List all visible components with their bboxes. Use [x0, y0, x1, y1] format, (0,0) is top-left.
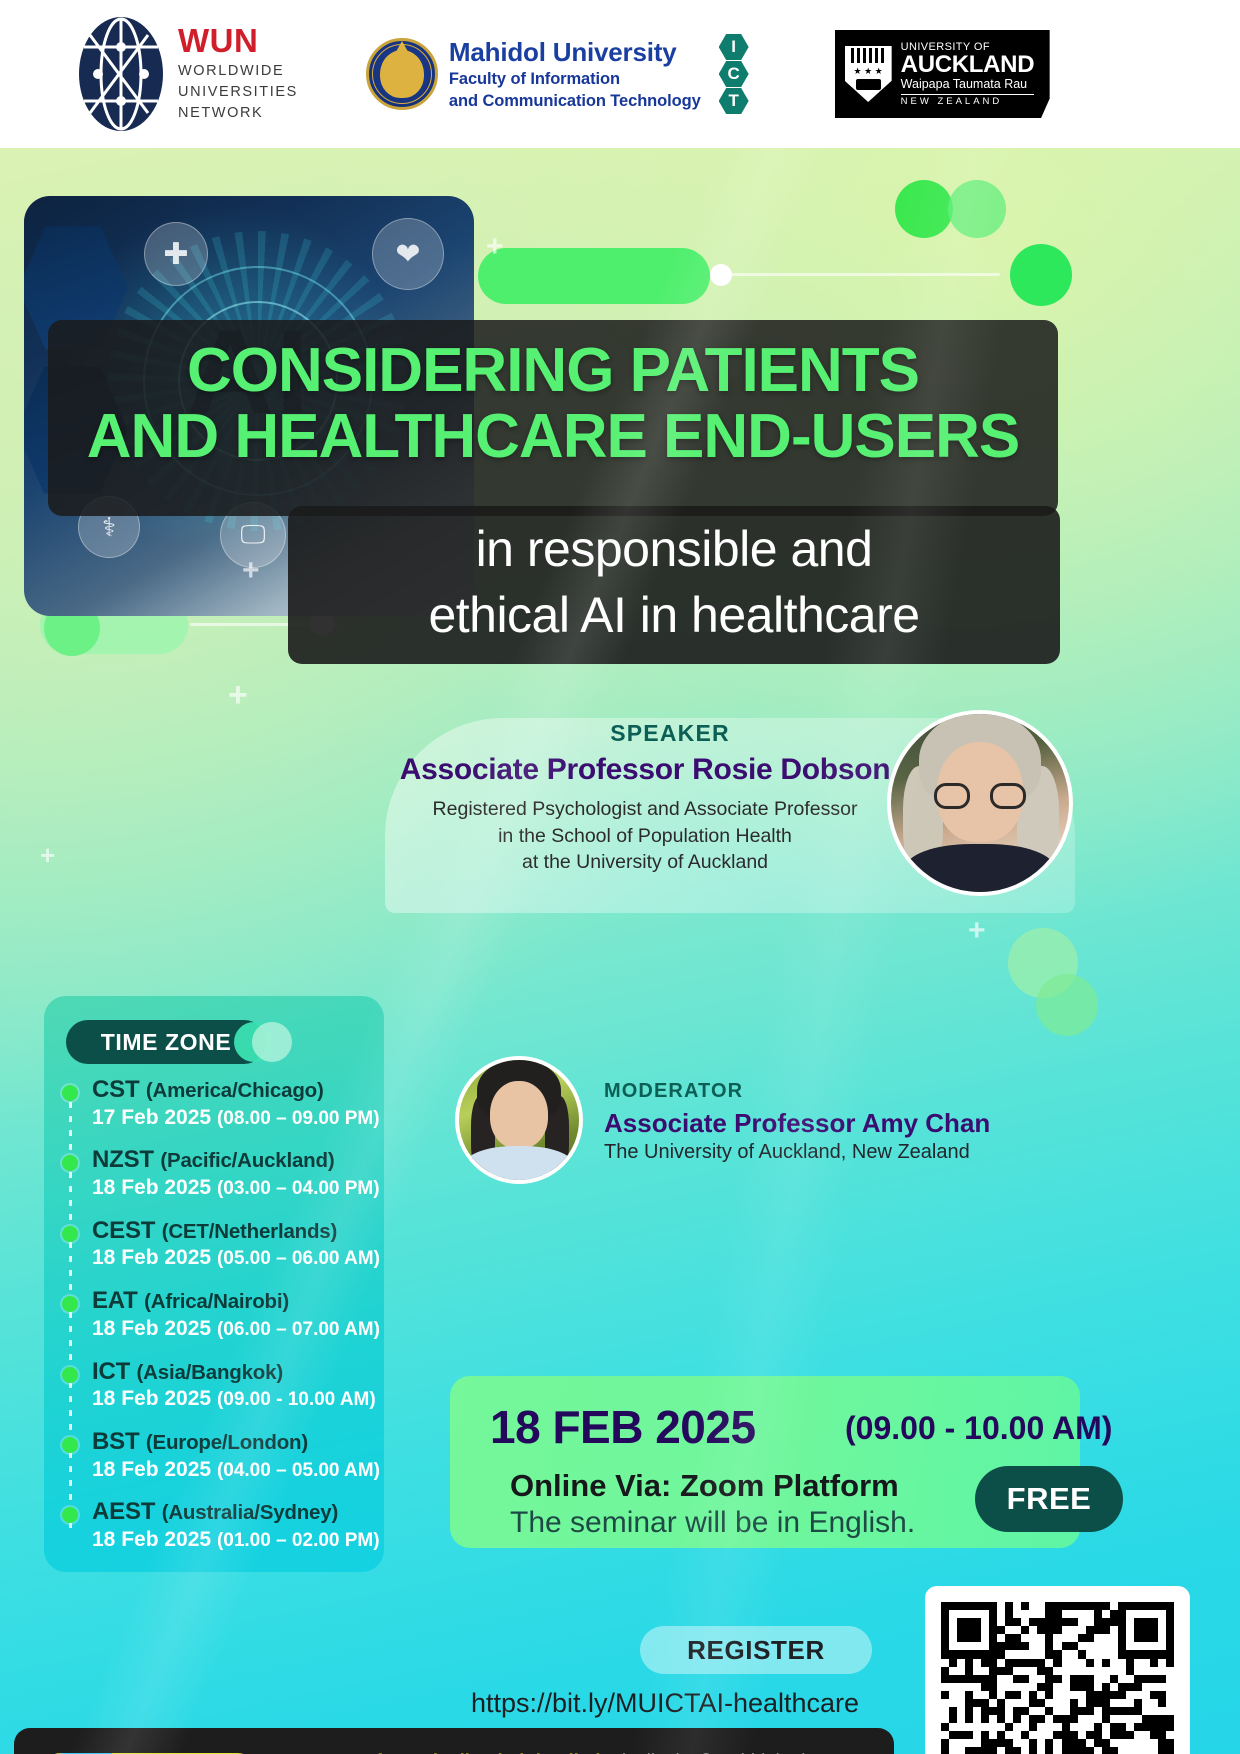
- hero-decor-plus: +: [242, 554, 260, 588]
- mahidol-seal-icon: [366, 38, 438, 110]
- timezone-datetime: 18 Feb 2025 (05.00 – 06.00 AM): [92, 1245, 382, 1271]
- timezone-datetime: 18 Feb 2025 (06.00 – 07.00 AM): [92, 1316, 382, 1342]
- free-badge: FREE: [975, 1466, 1123, 1532]
- mahidol-faculty-line-1: Faculty of Information: [449, 70, 701, 88]
- timezone-datetime: 18 Feb 2025 (09.00 - 10.00 AM): [92, 1386, 382, 1412]
- decor-circle-3: [1010, 244, 1072, 306]
- poster-body: + + + + + AI ✚ ❤ ⚕ 🖵 + CONSIDERING PATIE…: [0, 148, 1240, 1754]
- poster-title-line-2: AND HEALTHCARE END-USERS: [48, 404, 1058, 470]
- ict-letter-i: I: [719, 34, 749, 60]
- partner-logo-bar: WUN WORLDWIDE UNIVERSITIES NETWORK Mahid…: [0, 0, 1240, 148]
- auckland-logo: ★ ★ ★ UNIVERSITY OF AUCKLAND Waipapa Tau…: [835, 30, 1050, 118]
- timezone-code: AEST (Australia/Sydney): [92, 1498, 382, 1526]
- timezone-datetime: 18 Feb 2025 (03.00 – 04.00 PM): [92, 1175, 382, 1201]
- mahidol-logo: Mahidol University Faculty of Informatio…: [366, 38, 701, 110]
- speaker-bio: Registered Psychologist and Associate Pr…: [385, 796, 905, 876]
- mahidol-university-name: Mahidol University: [449, 38, 701, 67]
- moderator-label: MODERATOR: [604, 1080, 743, 1103]
- timezone-bullet-icon: [62, 1226, 78, 1242]
- poster-title-line-1: CONSIDERING PATIENTS: [48, 338, 1058, 404]
- ict-logo: I C T: [719, 34, 749, 114]
- moderator-avatar: [455, 1056, 583, 1184]
- decor-circle-1: [895, 180, 953, 238]
- timezone-bullet-icon: [62, 1155, 78, 1171]
- event-language-note: The seminar will be in English.: [510, 1506, 915, 1540]
- timezone-datetime: 18 Feb 2025 (04.00 – 05.00 AM): [92, 1457, 382, 1483]
- timezone-code: BST (Europe/London): [92, 1428, 382, 1456]
- event-date: 18 FEB 2025: [490, 1400, 756, 1454]
- decor-line-1: [730, 273, 1000, 276]
- timezone-datetime: 18 Feb 2025 (01.00 – 02.00 PM): [92, 1527, 382, 1553]
- mahidol-faculty-line-2: and Communication Technology: [449, 92, 701, 110]
- wun-globe-icon: [78, 15, 164, 133]
- timezone-item: CEST (CET/Netherlands)18 Feb 2025 (05.00…: [62, 1217, 382, 1271]
- speaker-label: SPEAKER: [430, 720, 910, 747]
- timezone-item: AEST (Australia/Sydney)18 Feb 2025 (01.0…: [62, 1498, 382, 1552]
- timezone-bullet-icon: [62, 1367, 78, 1383]
- wun-logo: WUN WORLDWIDE UNIVERSITIES NETWORK: [78, 15, 298, 133]
- timezone-item: CST (America/Chicago)17 Feb 2025 (08.00 …: [62, 1076, 382, 1130]
- timezone-code: CEST (CET/Netherlands): [92, 1217, 382, 1245]
- timezone-item: BST (Europe/London)18 Feb 2025 (04.00 – …: [62, 1428, 382, 1482]
- poster-title: CONSIDERING PATIENTS AND HEALTHCARE END-…: [48, 338, 1058, 469]
- decor-plus-1: +: [486, 230, 504, 264]
- speaker-avatar: [887, 710, 1073, 896]
- decor-circle-2: [948, 180, 1006, 238]
- contact-name: Asst. Prof. Dr. Tipajin Thaipisutikul:: [294, 1750, 606, 1754]
- speaker-bio-line-3: at the University of Auckland: [385, 849, 905, 876]
- timezone-item: ICT (Asia/Bangkok)18 Feb 2025 (09.00 - 1…: [62, 1358, 382, 1412]
- qr-code-image[interactable]: [941, 1602, 1174, 1754]
- event-time: (09.00 - 10.00 AM): [845, 1410, 1112, 1447]
- auckland-line-3: Waipapa Taumata Rau: [901, 78, 1035, 91]
- speaker-bio-line-2: in the School of Population Health: [385, 823, 905, 850]
- timezone-code: NZST (Pacific/Auckland): [92, 1146, 382, 1174]
- poster-subtitle-line-1: in responsible and: [288, 516, 1060, 582]
- timezone-code: ICT (Asia/Bangkok): [92, 1358, 382, 1386]
- register-label[interactable]: REGISTER: [640, 1626, 872, 1674]
- timezone-code: EAT (Africa/Nairobi): [92, 1287, 382, 1315]
- speaker-bio-line-1: Registered Psychologist and Associate Pr…: [385, 796, 905, 823]
- auckland-divider: [901, 94, 1035, 95]
- auckland-shield-icon: ★ ★ ★: [845, 46, 892, 102]
- contact-entry: •Asst. Prof. Dr. Tipajin Thaipisutikul: …: [288, 1746, 868, 1754]
- poster-subtitle: in responsible and ethical AI in healthc…: [288, 516, 1060, 648]
- wun-sub-line-3: NETWORK: [178, 103, 298, 124]
- timezone-bullet-icon: [62, 1085, 78, 1101]
- decor-plus-4: +: [968, 914, 986, 948]
- poster-subtitle-line-2: ethical AI in healthcare: [288, 582, 1060, 648]
- timezone-chip-circle-2: [252, 1022, 292, 1062]
- timezone-bullet-icon: [62, 1507, 78, 1523]
- hero-plus-icon: ✚: [144, 222, 208, 286]
- decor-circle-9: [1036, 974, 1098, 1036]
- wun-sub-line-1: WORLDWIDE: [178, 61, 298, 82]
- hero-heart-rate-icon: ❤: [372, 218, 444, 290]
- register-url[interactable]: https://bit.ly/MUICTAI-healthcare: [430, 1688, 900, 1719]
- moderator-affiliation: The University of Auckland, New Zealand: [604, 1141, 970, 1164]
- timezone-item: NZST (Pacific/Auckland)18 Feb 2025 (03.0…: [62, 1146, 382, 1200]
- decor-pill-1: [478, 248, 710, 304]
- wun-sub-line-2: UNIVERSITIES: [178, 82, 298, 103]
- speaker-name: Associate Professor Rosie Dobson: [385, 753, 905, 787]
- ict-letter-c: C: [719, 61, 749, 87]
- ict-letter-t: T: [719, 88, 749, 114]
- contact-list: •Asst. Prof. Dr. Tipajin Thaipisutikul: …: [288, 1746, 868, 1754]
- timezone-item: EAT (Africa/Nairobi)18 Feb 2025 (06.00 –…: [62, 1287, 382, 1341]
- timezone-list: CST (America/Chicago)17 Feb 2025 (08.00 …: [62, 1076, 382, 1569]
- timezone-bullet-icon: [62, 1437, 78, 1453]
- decor-plus-5: +: [40, 840, 55, 871]
- timezone-code: CST (America/Chicago): [92, 1076, 382, 1104]
- moderator-name: Associate Professor Amy Chan: [604, 1108, 990, 1139]
- contact-email: Tipajin.tha@mahidol.edu: [607, 1750, 816, 1754]
- timezone-bullet-icon: [62, 1296, 78, 1312]
- qr-code-card[interactable]: bitly: [925, 1586, 1190, 1754]
- timezone-datetime: 17 Feb 2025 (08.00 – 09.00 PM): [92, 1105, 382, 1131]
- auckland-line-2: AUCKLAND: [901, 53, 1035, 78]
- decor-dot-1: [710, 264, 732, 286]
- auckland-line-4: NEW ZEALAND: [901, 97, 1035, 107]
- decor-plus-2: +: [228, 676, 248, 715]
- wun-title: WUN: [178, 24, 298, 57]
- event-platform: Online Via: Zoom Platform: [510, 1468, 899, 1504]
